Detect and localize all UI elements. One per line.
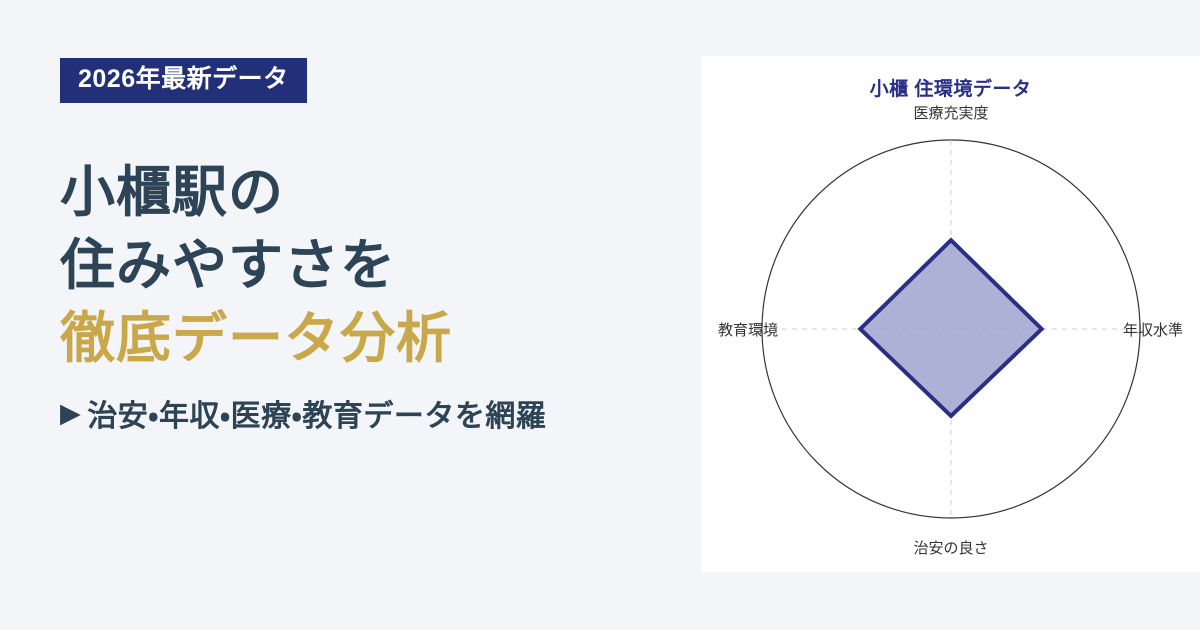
radar-series-polygon: [860, 240, 1041, 416]
triangle-right-icon: ▶: [60, 400, 81, 427]
subtitle-text: 治安・年収・医療・教育データを網羅: [87, 391, 546, 435]
radar-chart-svg: 医療充実度 年収水準 治安の良さ 教育環境: [701, 56, 1200, 572]
year-badge: 2026年最新データ: [60, 58, 307, 103]
axis-label-right: 年収水準: [1123, 322, 1183, 339]
page-title: 小櫃駅の 住みやすさを 徹底データ分析: [60, 156, 700, 375]
hero-left-panel: 2026年最新データ 小櫃駅の 住みやすさを 徹底データ分析 ▶ 治安・年収・医…: [0, 0, 700, 630]
headline-line-1: 小櫃駅の: [60, 156, 700, 229]
axis-label-left: 教育環境: [718, 322, 778, 339]
radar-chart-card: 小櫃 住環境データ 医療充実度 年収水準 治安の良さ 教育環境: [701, 56, 1200, 572]
headline-line-2: 住みやすさを: [60, 229, 700, 302]
radar-chart: 医療充実度 年収水準 治安の良さ 教育環境: [701, 56, 1200, 572]
axis-label-bottom: 治安の良さ: [913, 540, 988, 557]
subtitle: ▶ 治安・年収・医療・教育データを網羅: [60, 391, 700, 435]
axis-label-top: 医療充実度: [913, 105, 988, 122]
headline-line-3: 徹底データ分析: [60, 302, 700, 375]
